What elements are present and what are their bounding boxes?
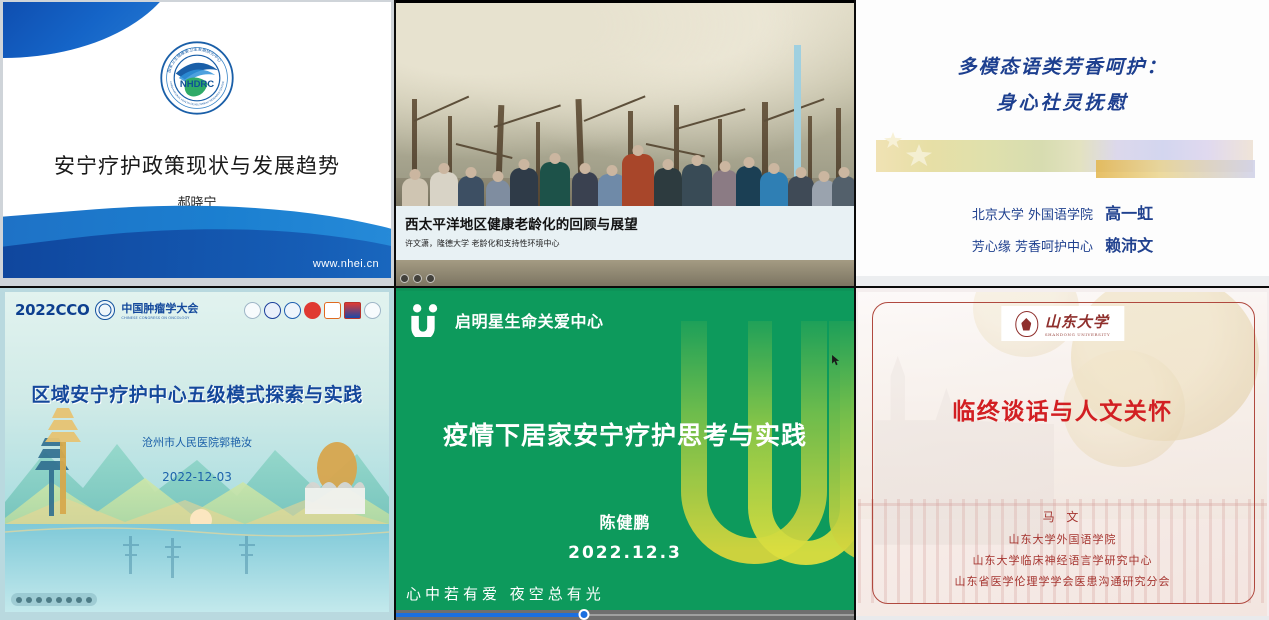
slide-title: 临终谈话与人文关怀 xyxy=(858,392,1267,426)
sdu-name-cn: 山东大学 SHANDONG UNIVERSITY xyxy=(1045,311,1110,337)
decorative-gold-band xyxy=(1096,160,1255,178)
slide-surface-cco: 2022CCO 中国肿瘤学大会 CHINESE CONGRESS ON ONCO… xyxy=(5,292,389,612)
sdu-name-en: SHANDONG UNIVERSITY xyxy=(1045,332,1110,337)
panel-cco[interactable]: 2022CCO 中国肿瘤学大会 CHINESE CONGRESS ON ONCO… xyxy=(0,288,394,620)
slide-author: 马 文 xyxy=(858,508,1267,525)
slide-surface-policy: NHDRC 国家卫生健康委卫生发展研究中心 CHINA NATIONAL HEA… xyxy=(3,2,391,278)
credit1-org: 北京大学 外国语学院 xyxy=(972,208,1093,223)
blue-corner-decoration xyxy=(3,2,183,58)
sponsor-logo-6 xyxy=(344,302,361,319)
qimingxing-mark-icon xyxy=(408,303,448,337)
panel-ageing[interactable]: 西太平洋地区健康老龄化的回顾与展望 许文潇，隆德大学 老龄化和支持性环境中心 xyxy=(396,0,854,286)
decorative-arcs xyxy=(574,321,854,610)
progress-handle[interactable] xyxy=(578,609,589,620)
slide-title: 区域安宁疗护中心五级模式探索与实践 xyxy=(5,380,389,407)
presentation-thumbnail-grid: NHDRC 国家卫生健康委卫生发展研究中心 CHINA NATIONAL HEA… xyxy=(0,0,1269,620)
nhdrc-logo: NHDRC 国家卫生健康委卫生发展研究中心 CHINA NATIONAL HEA… xyxy=(159,40,235,116)
progress-remaining xyxy=(584,614,854,616)
collapse-icon[interactable] xyxy=(86,597,92,603)
credit-line-2: 芳心缘 芳香呵护中心 赖沛文 xyxy=(856,232,1269,256)
cco-code: 2022CCO xyxy=(15,301,89,319)
slide-title-line1: 多模态语类芳香呵护： xyxy=(856,52,1269,79)
fullscreen-icon[interactable] xyxy=(400,274,409,283)
credit1-name: 高一虹 xyxy=(1105,204,1153,223)
cco-brand-header: 2022CCO 中国肿瘤学大会 CHINESE CONGRESS ON ONCO… xyxy=(15,300,198,320)
affiliation-3: 山东省医学伦理学学会医患沟通研究分会 xyxy=(858,573,1267,589)
annotation-toolbar[interactable] xyxy=(11,593,97,606)
slide-url: www.nhei.cn xyxy=(313,258,379,270)
affiliation-2: 山东大学临床神经语言学研究中心 xyxy=(858,552,1267,568)
slide-author: 陈健鹏 xyxy=(396,509,854,533)
slide-subtitle: 许文潇，隆德大学 老龄化和支持性环境中心 xyxy=(405,238,845,249)
video-control-icons[interactable] xyxy=(400,274,435,283)
sponsor-logo-5 xyxy=(324,302,341,319)
qimingxing-brand-name: 启明星生命关爱中心 xyxy=(455,308,604,332)
sponsor-logo-3 xyxy=(284,302,301,319)
panel-policy[interactable]: NHDRC 国家卫生健康委卫生发展研究中心 CHINA NATIONAL HEA… xyxy=(0,0,394,286)
video-progress-scrubber[interactable] xyxy=(396,610,854,620)
park-photo: 西太平洋地区健康老龄化的回顾与展望 许文潇，隆德大学 老龄化和支持性环境中心 xyxy=(396,3,854,286)
panel-sdu[interactable]: 山东大学 SHANDONG UNIVERSITY 临终谈话与人文关怀 马 文 山… xyxy=(856,288,1269,620)
credit2-name: 赖沛文 xyxy=(1105,236,1153,255)
settings-icon[interactable] xyxy=(426,274,435,283)
slide-title-line2: 身心社灵抚慰 xyxy=(856,88,1269,115)
mouse-cursor-icon xyxy=(832,353,840,364)
slide-title: 疫情下居家安宁疗护思考与实践 xyxy=(396,416,854,452)
svg-text:NHDRC: NHDRC xyxy=(180,79,214,90)
progress-filled xyxy=(396,613,584,617)
sponsor-logo-row xyxy=(244,302,381,319)
cco-seal-icon xyxy=(95,300,115,320)
volume-icon[interactable] xyxy=(413,274,422,283)
slide-date: 2022-12-03 xyxy=(5,470,389,484)
slide-credits: 马 文 山东大学外国语学院 山东大学临床神经语言学研究中心 山东省医学伦理学学会… xyxy=(858,508,1267,594)
cco-brand-cn: 中国肿瘤学大会 CHINESE CONGRESS ON ONCOLOGY xyxy=(121,300,198,320)
slide-caption-bar: 西太平洋地区健康老龄化的回顾与展望 许文潇，隆德大学 老龄化和支持性环境中心 xyxy=(396,206,854,260)
panel-aroma[interactable]: 多模态语类芳香呵护： 身心社灵抚慰 北京大学 外国语学院 高一虹 芳心缘 芳香呵… xyxy=(856,0,1269,286)
slide-surface-aroma: 多模态语类芳香呵护： 身心社灵抚慰 北京大学 外国语学院 高一虹 芳心缘 芳香呵… xyxy=(856,0,1269,286)
panel-qimingxing[interactable]: 启明星生命关爱中心 疫情下居家安宁疗护思考与实践 陈健鹏 2022.12.3 心… xyxy=(396,288,854,620)
pen-icon[interactable] xyxy=(36,597,42,603)
slide-surface-sdu: 山东大学 SHANDONG UNIVERSITY 临终谈话与人文关怀 马 文 山… xyxy=(858,292,1267,616)
slide-title: 安宁疗护政策现状与发展趋势 xyxy=(3,150,391,180)
pointer-icon[interactable] xyxy=(16,597,22,603)
cco-brand-en: CHINESE CONGRESS ON ONCOLOGY xyxy=(121,316,198,320)
credit2-org: 芳心缘 芳香呵护中心 xyxy=(972,240,1093,255)
slide-surface-qimingxing: 启明星生命关爱中心 疫情下居家安宁疗护思考与实践 陈健鹏 2022.12.3 心… xyxy=(396,291,854,610)
sponsor-logo-1 xyxy=(244,302,261,319)
credit-line-1: 北京大学 外国语学院 高一虹 xyxy=(856,200,1269,224)
select-icon[interactable] xyxy=(26,597,32,603)
eraser-icon[interactable] xyxy=(66,597,72,603)
undo-icon[interactable] xyxy=(76,597,82,603)
landscape-illustration xyxy=(5,292,389,612)
slide-date: 2022.12.3 xyxy=(396,543,854,563)
photo-bottom-strip xyxy=(396,260,854,286)
highlighter-icon[interactable] xyxy=(46,597,52,603)
sponsor-logo-2 xyxy=(264,302,281,319)
panel-bottom-edge xyxy=(856,276,1269,286)
slide-slogan: 心中若有爱 夜空总有光 xyxy=(406,583,605,604)
slide-title: 西太平洋地区健康老龄化的回顾与展望 xyxy=(405,213,845,233)
sdu-seal-icon xyxy=(1015,311,1038,337)
shape-icon[interactable] xyxy=(56,597,62,603)
affiliation-1: 山东大学外国语学院 xyxy=(858,531,1267,547)
sponsor-logo-7 xyxy=(364,302,381,319)
qimingxing-logo: 启明星生命关爱中心 xyxy=(408,303,604,337)
panel-bottom-edge xyxy=(856,616,1269,620)
sponsor-logo-4 xyxy=(304,302,321,319)
slide-author: 沧州市人民医院郭艳汝 xyxy=(5,434,389,450)
sdu-logo: 山东大学 SHANDONG UNIVERSITY xyxy=(1001,306,1124,341)
